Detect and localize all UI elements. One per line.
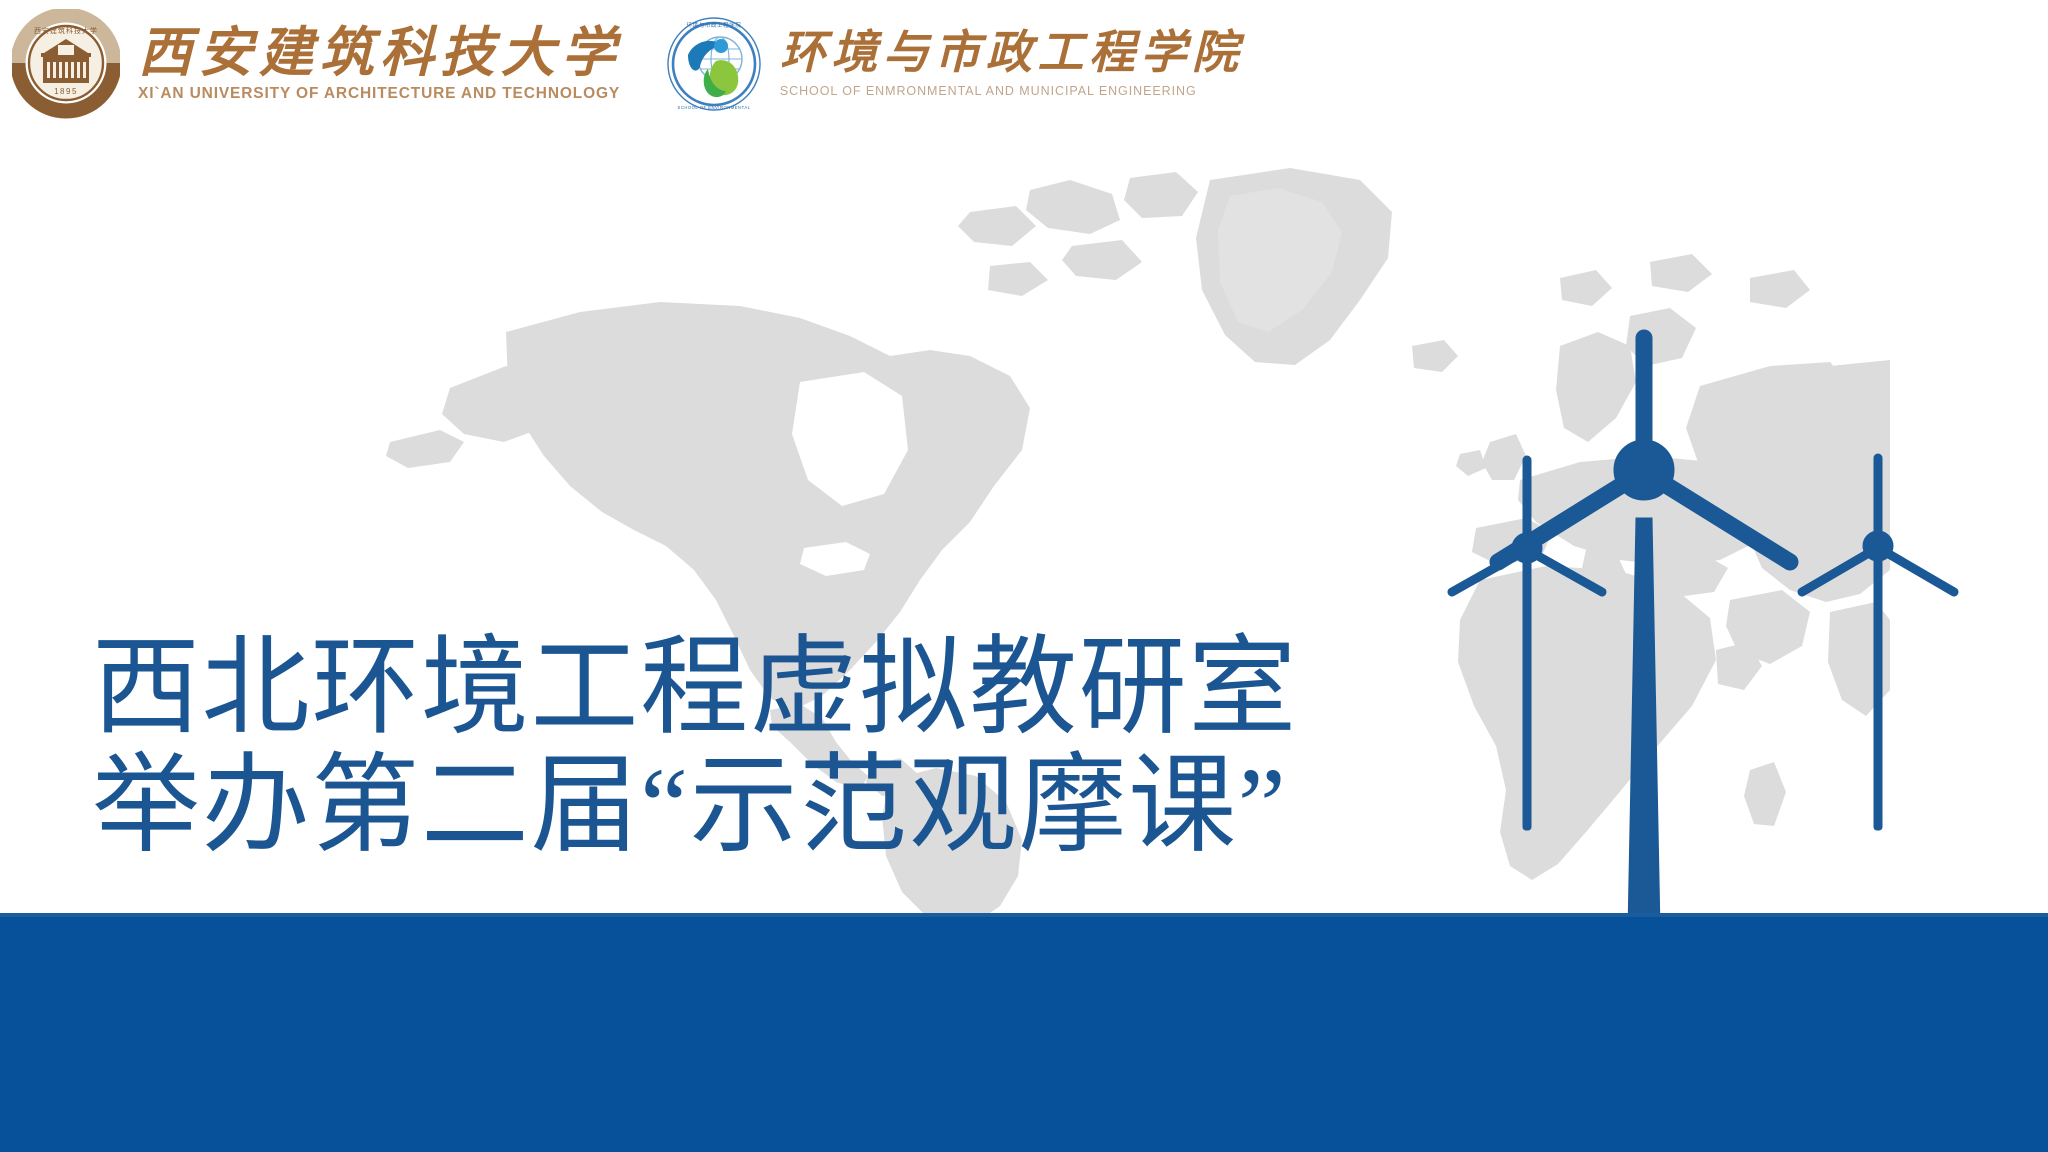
school-logo: 环境与市政工程学院 SCHOOL OF ENVIRONMENTAL 环境与市政工… [664, 13, 1244, 115]
wind-turbine-right-small [1802, 458, 1954, 830]
xauat-seal-icon: 1895 西安建筑科技大学 [12, 9, 120, 119]
presentation-slide: 1895 西安建筑科技大学 西安建筑科技大学 XI`AN UNIVERSITY … [0, 0, 2048, 1152]
title-line-2: 举办第二届“示范观摩课” [92, 748, 1242, 866]
bar-top-highlight [0, 913, 2048, 917]
bottom-accent-bar [0, 913, 2048, 1152]
wind-turbine-left-small [1452, 460, 1602, 830]
svg-text:西安建筑科技大学: 西安建筑科技大学 [34, 26, 98, 35]
school-name-en: SCHOOL OF ENMRONMENTAL AND MUNICIPAL ENG… [780, 82, 1244, 100]
header-logo-band: 1895 西安建筑科技大学 西安建筑科技大学 XI`AN UNIVERSITY … [0, 0, 2048, 128]
school-seal-icon: 环境与市政工程学院 SCHOOL OF ENVIRONMENTAL [664, 13, 764, 115]
university-logo: 1895 西安建筑科技大学 西安建筑科技大学 XI`AN UNIVERSITY … [12, 9, 622, 119]
svg-text:SCHOOL OF ENVIRONMENTAL: SCHOOL OF ENVIRONMENTAL [677, 105, 750, 110]
university-name-cn: 西安建筑科技大学 [138, 24, 622, 82]
wind-turbine-group [1460, 330, 2048, 930]
page-title: 西北环境工程虚拟教研室 举办第二届“示范观摩课” [92, 630, 1242, 866]
wind-turbine-center-large [1498, 338, 1790, 930]
school-name-cn: 环境与市政工程学院 [780, 28, 1244, 78]
title-line-1: 西北环境工程虚拟教研室 [92, 630, 1242, 748]
seal-year: 1895 [54, 87, 78, 96]
university-name-en: XI`AN UNIVERSITY OF ARCHITECTURE AND TEC… [138, 84, 622, 104]
svg-text:环境与市政工程学院: 环境与市政工程学院 [686, 21, 741, 29]
